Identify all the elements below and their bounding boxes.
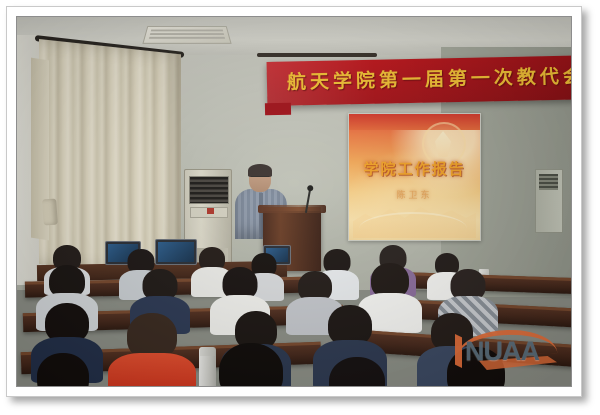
flask-lid: [200, 347, 215, 356]
banner-text: 航天学院第一届第一次教代会暨工代会: [287, 62, 571, 98]
person-torso: [108, 353, 196, 386]
audience-person: [205, 343, 297, 386]
photo-border: 航天学院第一届第一次教代会暨工代会 学院工作报告 陈卫东: [16, 16, 572, 387]
watermark-label: NUAA: [465, 336, 539, 367]
banner-fold: [265, 103, 291, 115]
person-head: [219, 343, 283, 386]
photo-frame: 航天学院第一届第一次教代会暨工代会 学院工作报告 陈卫东: [6, 6, 582, 397]
speaker-glasses: [251, 176, 269, 181]
air-conditioner-unit-right: [535, 169, 563, 233]
person-head: [329, 357, 385, 386]
projection-screen: 学院工作报告 陈卫东: [348, 113, 481, 241]
podium-top: [258, 205, 326, 213]
audience-person: [25, 353, 101, 386]
laptop: [155, 239, 197, 265]
projected-slide: 学院工作报告 陈卫东: [349, 114, 480, 240]
ac-vent-grille: [189, 176, 229, 204]
curtain-rod-right: [257, 53, 377, 57]
audience-person: [113, 313, 191, 386]
audience-person: [317, 357, 397, 386]
slide-title: 学院工作报告: [349, 158, 480, 179]
vacuum-flask: [199, 347, 216, 386]
ac-indicator-light: [207, 208, 214, 214]
slide-author: 陈卫东: [349, 188, 480, 201]
curtain-tieback: [42, 199, 58, 226]
conference-hall-photograph: 航天学院第一届第一次教代会暨工代会 学院工作报告 陈卫东: [17, 17, 571, 386]
ceiling-light-icon: [142, 26, 231, 44]
nuaa-watermark-logo: NUAA: [449, 328, 559, 372]
red-congress-banner: 航天学院第一届第一次教代会暨工代会: [267, 56, 571, 106]
person-head: [37, 353, 89, 386]
slide-top-band: [349, 114, 480, 130]
